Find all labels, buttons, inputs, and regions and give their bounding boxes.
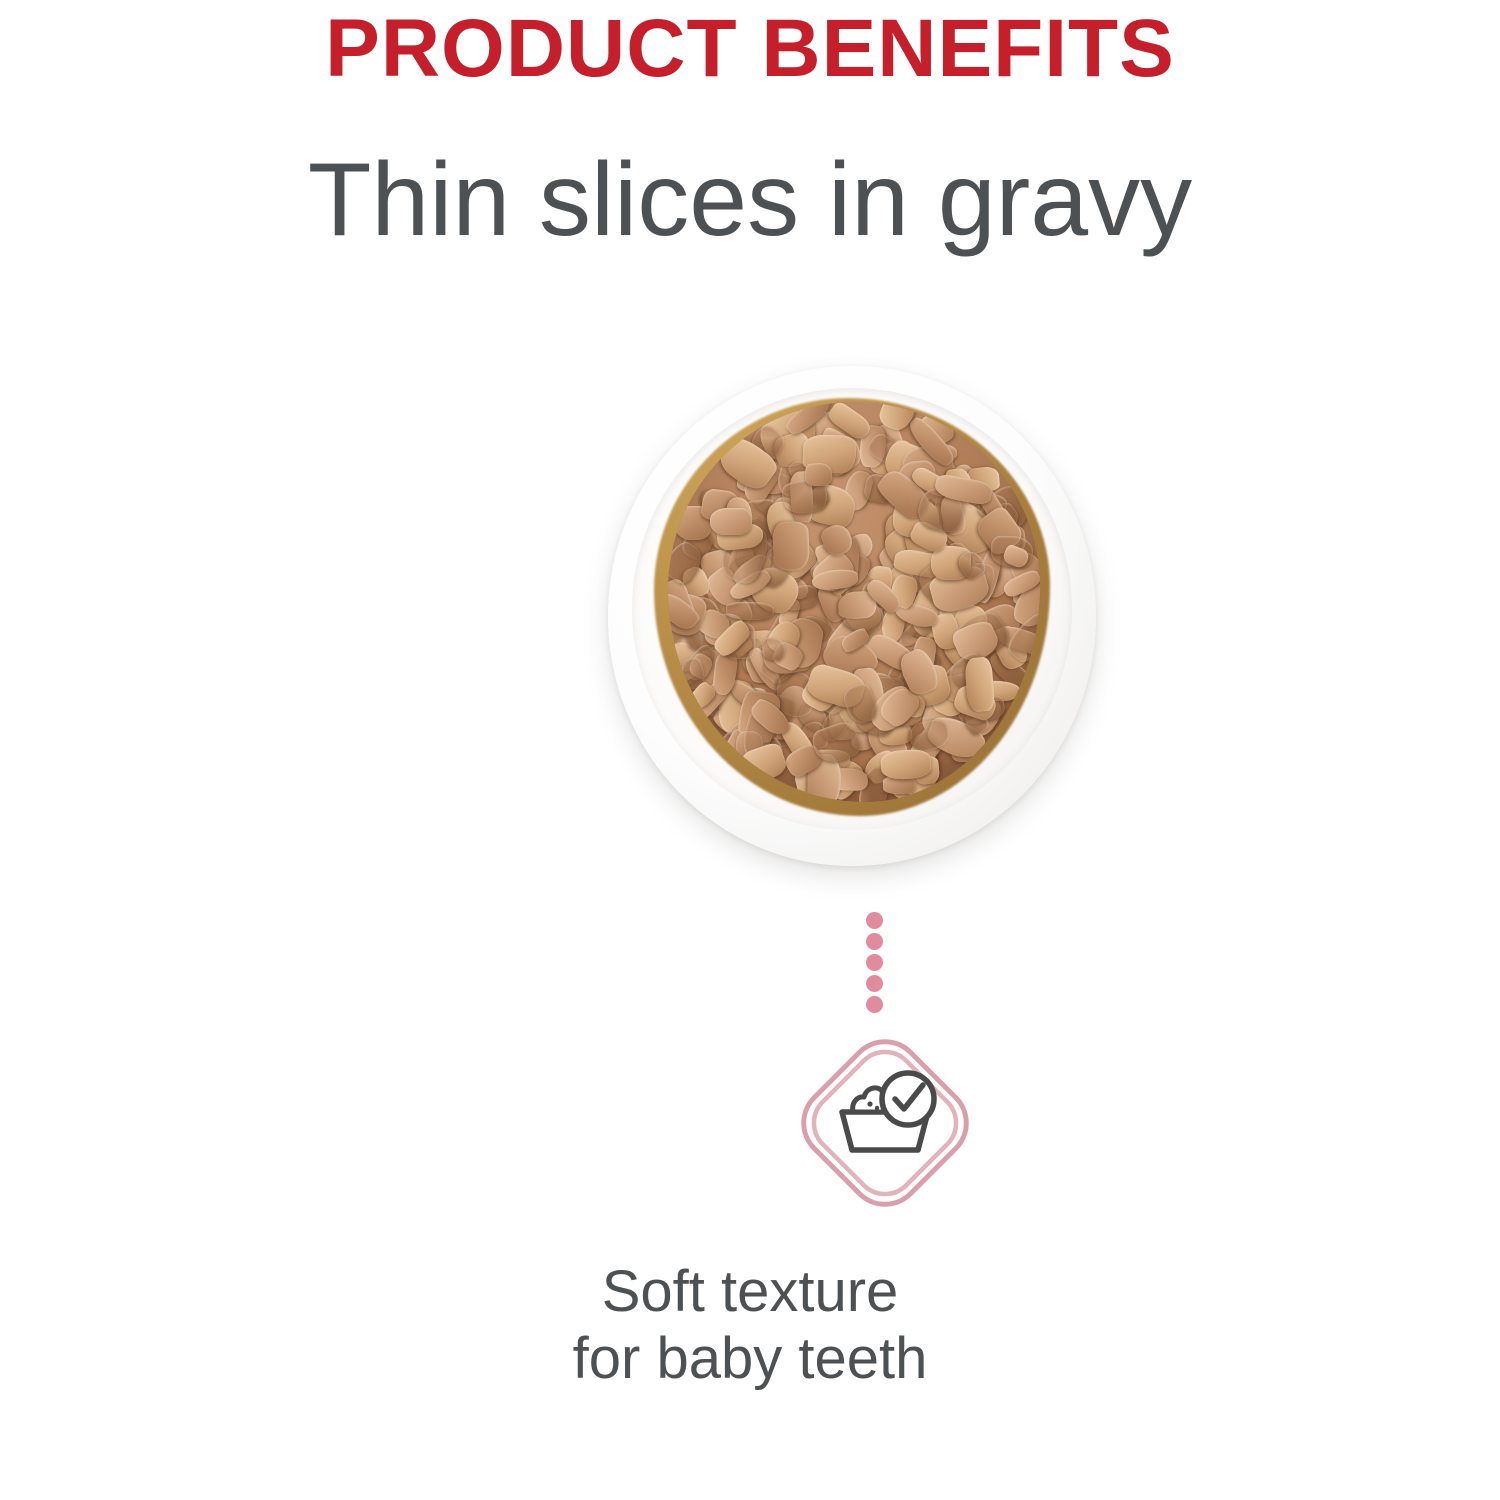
food-bowl-check-icon	[790, 1028, 980, 1218]
meat-chunk	[964, 656, 995, 712]
connector-dot	[866, 933, 883, 950]
benefit-caption: Soft texture for baby teeth	[0, 1258, 1500, 1393]
brand-footer	[0, 1400, 1500, 1500]
meat-chunk	[725, 601, 774, 621]
meat-chunk	[772, 520, 810, 570]
page-headline: Thin slices in gravy	[0, 142, 1500, 258]
connector-dot	[866, 975, 883, 992]
benefit-caption-line-2: for baby teeth	[0, 1325, 1500, 1392]
dotted-connector	[866, 912, 894, 1012]
connector-dot	[866, 996, 883, 1013]
product-photo	[602, 358, 1102, 878]
benefit-caption-line-1: Soft texture	[0, 1258, 1500, 1325]
connector-dot	[866, 912, 883, 929]
page-eyebrow-title: PRODUCT BENEFITS	[0, 6, 1500, 92]
product-benefits-panel: PRODUCT BENEFITS Thin slices in gravy	[0, 0, 1500, 1500]
meat-chunk	[710, 507, 753, 534]
connector-dot	[866, 954, 883, 971]
meat-chunk-mound	[668, 402, 1040, 802]
